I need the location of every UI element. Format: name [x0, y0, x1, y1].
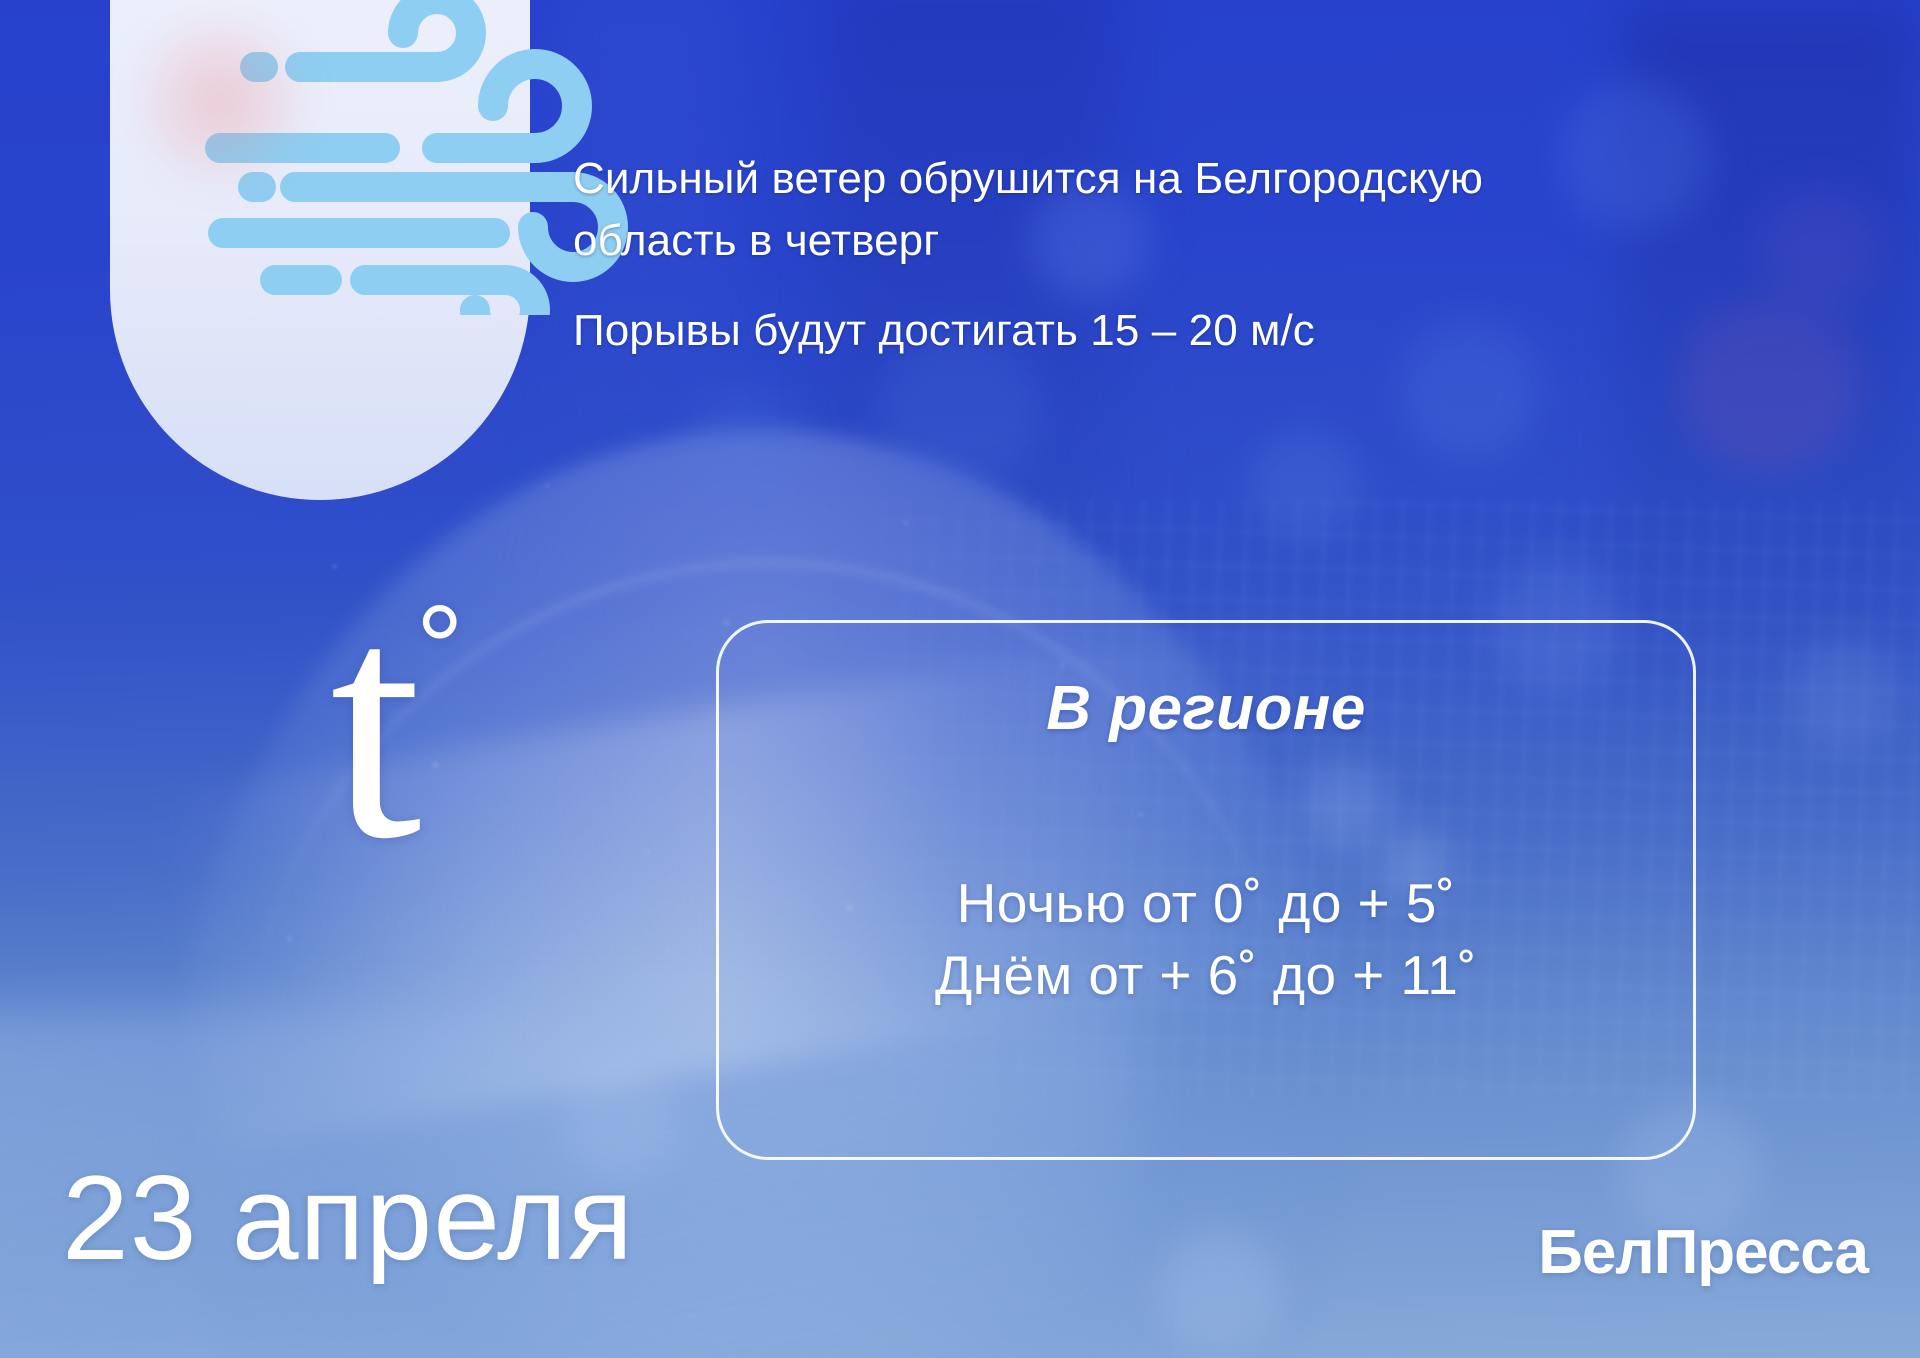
date-label: 23 апреля	[62, 1158, 634, 1278]
wind-icon-badge	[110, 0, 530, 500]
page-title: Сильный ветер обрушится на Белгородскую …	[573, 148, 1503, 273]
night-temperature-line: Ночью от 0˚ до + 5˚	[719, 868, 1693, 940]
degree-icon: °	[416, 588, 464, 708]
temperature-letter: t	[330, 560, 422, 890]
temperature-symbol: t°	[330, 560, 464, 890]
region-forecast-card: В регионе Ночью от 0˚ до + 5˚ Днём от + …	[716, 620, 1696, 1160]
wind-gusts-text: Порывы будут достигать 15 – 20 м/с	[573, 300, 1503, 362]
weather-infographic-poster: Сильный ветер обрушится на Белгородскую …	[0, 0, 1920, 1358]
belpressa-logo: БелПресса	[1538, 1222, 1868, 1284]
region-card-title: В регионе	[719, 673, 1693, 744]
day-temperature-line: Днём от + 6˚ до + 11˚	[719, 940, 1693, 1012]
region-temperature-lines: Ночью от 0˚ до + 5˚ Днём от + 6˚ до + 11…	[719, 868, 1693, 1011]
